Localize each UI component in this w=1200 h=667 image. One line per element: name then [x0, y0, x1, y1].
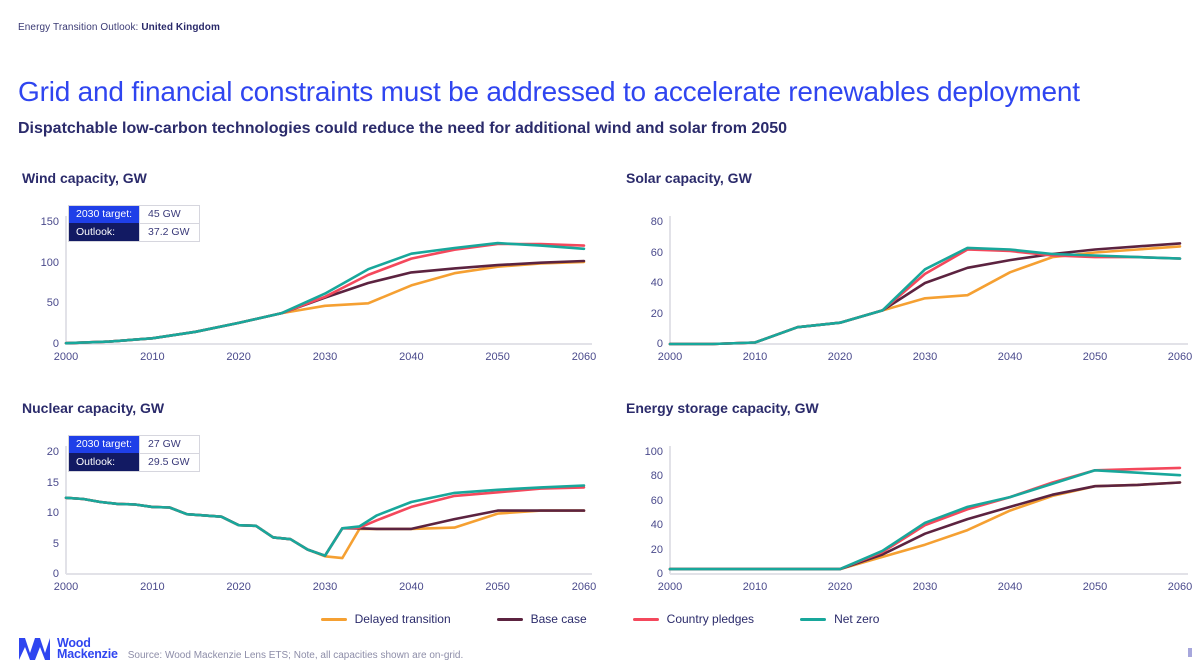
target-label-solar: 2030 target: [69, 206, 139, 223]
x-tick-solar-2: 2020 [828, 351, 852, 363]
legend-item-country-pledges[interactable]: Country pledges [633, 612, 754, 626]
footer: Wood Mackenzie Source: Wood Mackenzie Le… [18, 636, 463, 662]
page-title: Grid and financial constraints must be a… [18, 76, 1080, 108]
outlook-value-storage: 29.5 GW [139, 453, 199, 471]
legend-label-net-zero: Net zero [834, 612, 879, 626]
legend-label-base-case: Base case [531, 612, 587, 626]
y-tick-nuclear-2: 10 [47, 507, 59, 519]
legend-swatch-delayed-transition-icon [321, 618, 347, 621]
chart-svg-solar [622, 192, 1194, 366]
x-tick-wind-2: 2020 [226, 351, 250, 363]
plot-area-storage: 2030 target:27 GWOutlook:29.5 GW02040608… [622, 422, 1194, 596]
legend-item-delayed-transition[interactable]: Delayed transition [321, 612, 451, 626]
target-label-storage: 2030 target: [69, 436, 139, 453]
y-tick-wind-3: 150 [41, 216, 59, 228]
x-tick-nuclear-1: 2010 [140, 581, 164, 593]
chart-panel-wind: Wind capacity, GW2030 target:70 GWOutloo… [18, 170, 598, 366]
x-tick-nuclear-6: 2060 [572, 581, 596, 593]
x-tick-wind-0: 2000 [54, 351, 78, 363]
page-marker [1188, 648, 1192, 657]
y-tick-storage-3: 60 [651, 495, 663, 507]
kicker-country: United Kingdom [141, 22, 220, 33]
y-tick-nuclear-3: 15 [47, 477, 59, 489]
outlook-label-storage: Outlook: [69, 453, 139, 471]
y-tick-wind-2: 100 [41, 257, 59, 269]
legend-item-base-case[interactable]: Base case [497, 612, 587, 626]
y-tick-storage-5: 100 [645, 446, 663, 458]
x-tick-storage-2: 2020 [828, 581, 852, 593]
x-tick-wind-3: 2030 [313, 351, 337, 363]
kicker-prefix: Energy Transition Outlook: [18, 22, 138, 33]
series-line-delayed-transition [66, 262, 584, 343]
target-box-solar: 2030 target:45 GWOutlook:37.2 GW [68, 205, 200, 242]
x-tick-solar-6: 2060 [1168, 351, 1192, 363]
y-tick-solar-3: 60 [651, 247, 663, 259]
series-line-net-zero [670, 248, 1180, 344]
chart-panel-storage: Energy storage capacity, GW2030 target:2… [622, 400, 1194, 596]
x-tick-wind-4: 2040 [399, 351, 423, 363]
logo-line-2: Mackenzie [57, 649, 118, 661]
y-tick-storage-2: 40 [651, 519, 663, 531]
series-line-base-case [66, 261, 584, 343]
y-tick-wind-1: 50 [47, 297, 59, 309]
x-tick-nuclear-4: 2040 [399, 581, 423, 593]
x-tick-nuclear-5: 2050 [485, 581, 509, 593]
chart-title-solar: Solar capacity, GW [626, 170, 1194, 186]
y-tick-solar-4: 80 [651, 216, 663, 228]
y-tick-solar-1: 20 [651, 308, 663, 320]
legend-label-country-pledges: Country pledges [667, 612, 754, 626]
legend-item-net-zero[interactable]: Net zero [800, 612, 879, 626]
x-tick-storage-3: 2030 [913, 581, 937, 593]
x-tick-storage-4: 2040 [998, 581, 1022, 593]
target-box-storage: 2030 target:27 GWOutlook:29.5 GW [68, 435, 200, 472]
plot-area-solar: 2030 target:45 GWOutlook:37.2 GW02040608… [622, 192, 1194, 366]
x-tick-solar-1: 2010 [743, 351, 767, 363]
x-tick-storage-5: 2050 [1083, 581, 1107, 593]
x-tick-storage-6: 2060 [1168, 581, 1192, 593]
x-tick-solar-4: 2040 [998, 351, 1022, 363]
legend: Delayed transitionBase caseCountry pledg… [0, 612, 1200, 626]
y-tick-storage-0: 0 [657, 568, 663, 580]
chart-svg-storage [622, 422, 1194, 596]
x-tick-storage-0: 2000 [658, 581, 682, 593]
outlook-value-solar: 37.2 GW [139, 223, 199, 241]
x-tick-nuclear-2: 2020 [226, 581, 250, 593]
x-tick-solar-3: 2030 [913, 351, 937, 363]
wood-mackenzie-mark-icon [18, 636, 52, 662]
x-tick-storage-1: 2010 [743, 581, 767, 593]
x-tick-solar-0: 2000 [658, 351, 682, 363]
y-tick-solar-0: 0 [657, 338, 663, 350]
kicker: Energy Transition Outlook: United Kingdo… [18, 22, 220, 33]
x-tick-nuclear-3: 2030 [313, 581, 337, 593]
chart-panel-nuclear: Nuclear capacity, GW2050 target:24 GWOut… [18, 400, 598, 596]
series-line-delayed-transition [670, 246, 1180, 344]
chart-panel-solar: Solar capacity, GW2030 target:45 GWOutlo… [622, 170, 1194, 366]
y-tick-wind-0: 0 [53, 338, 59, 350]
chart-title-wind: Wind capacity, GW [22, 170, 598, 186]
y-tick-nuclear-1: 5 [53, 538, 59, 550]
source-note: Source: Wood Mackenzie Lens ETS; Note, a… [128, 650, 464, 662]
legend-swatch-country-pledges-icon [633, 618, 659, 621]
target-value-solar: 45 GW [139, 206, 199, 223]
page-subtitle: Dispatchable low-carbon technologies cou… [18, 120, 787, 138]
y-tick-nuclear-4: 20 [47, 446, 59, 458]
target-value-storage: 27 GW [139, 436, 199, 453]
chart-title-nuclear: Nuclear capacity, GW [22, 400, 598, 416]
x-tick-solar-5: 2050 [1083, 351, 1107, 363]
series-line-country-pledges [670, 468, 1180, 569]
chart-title-storage: Energy storage capacity, GW [626, 400, 1194, 416]
series-line-net-zero [66, 243, 584, 343]
legend-swatch-base-case-icon [497, 618, 523, 621]
series-line-base-case [670, 243, 1180, 344]
outlook-label-solar: Outlook: [69, 223, 139, 241]
y-tick-storage-4: 80 [651, 470, 663, 482]
legend-swatch-net-zero-icon [800, 618, 826, 621]
x-tick-nuclear-0: 2000 [54, 581, 78, 593]
y-tick-storage-1: 20 [651, 544, 663, 556]
x-tick-wind-6: 2060 [572, 351, 596, 363]
series-line-net-zero [66, 486, 584, 556]
series-line-country-pledges [670, 250, 1180, 345]
y-tick-nuclear-0: 0 [53, 568, 59, 580]
y-tick-solar-2: 40 [651, 277, 663, 289]
legend-label-delayed-transition: Delayed transition [355, 612, 451, 626]
series-line-country-pledges [66, 487, 584, 555]
x-tick-wind-1: 2010 [140, 351, 164, 363]
wood-mackenzie-logo: Wood Mackenzie [18, 636, 118, 662]
x-tick-wind-5: 2050 [485, 351, 509, 363]
